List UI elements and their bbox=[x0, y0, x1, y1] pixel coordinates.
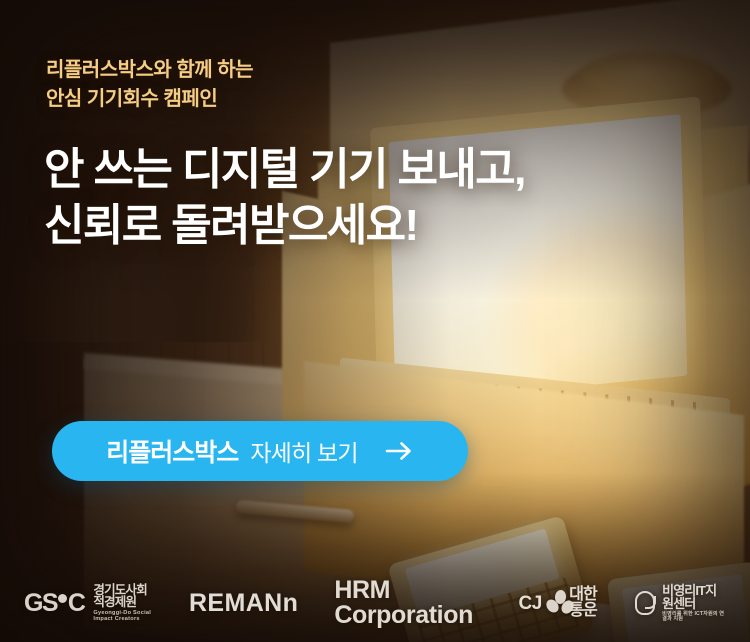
logo-gsic[interactable]: GSC 경기도사회적경제원 Gyeonggi-Do Social Impact … bbox=[24, 584, 155, 622]
npoit-subtitle: 비영리를 위한 ICT자원의 연결과 지원 bbox=[662, 612, 726, 622]
gsic-mark-tail: C bbox=[68, 591, 84, 616]
banner-content: 리플러스박스와 함께 하는 안심 기기회수 캠페인 안 쓰는 디지털 기기 보내… bbox=[0, 0, 750, 642]
logo-npo-it-center[interactable]: 비영리IT지원센터 비영리를 위한 ICT자원의 연결과 지원 bbox=[635, 584, 726, 622]
logo-cj-logistics[interactable]: CJ 대한통운 bbox=[519, 587, 605, 619]
arrow-right-icon bbox=[384, 440, 414, 462]
campaign-banner: 리플러스박스와 함께 하는 안심 기기회수 캠페인 안 쓰는 디지털 기기 보내… bbox=[0, 0, 750, 642]
cta-action-label: 자세히 보기 bbox=[250, 434, 357, 468]
eyebrow-text: 리플러스박스와 함께 하는 안심 기기회수 캠페인 bbox=[46, 56, 253, 114]
gsic-name-en: Gyeonggi-Do Social Impact Creators bbox=[93, 611, 155, 622]
cj-name-kr: 대한통운 bbox=[569, 587, 604, 619]
npoit-name-kr: 비영리IT지원센터 bbox=[662, 584, 726, 610]
gsic-mark-icon: GSC bbox=[24, 591, 84, 616]
cj-blossom-icon bbox=[547, 590, 564, 617]
logo-hrm-corporation[interactable]: HRM Corporation bbox=[334, 578, 484, 628]
hrm-wordmark: HRM Corporation bbox=[334, 578, 484, 628]
gsic-mark-letters: GS bbox=[24, 591, 57, 616]
page-title: 안 쓰는 디지털 기기 보내고, 신뢰로 돌려받으세요! bbox=[44, 142, 525, 255]
cj-wordmark: CJ bbox=[519, 594, 542, 613]
cta-brand-label: 리플러스박스 bbox=[106, 433, 238, 469]
npoit-wordmark: 비영리IT지원센터 비영리를 위한 ICT자원의 연결과 지원 bbox=[662, 584, 726, 622]
remann-wordmark: REMANn bbox=[189, 591, 298, 616]
gsic-person-dot-icon bbox=[58, 594, 67, 603]
gsic-name-kr: 경기도사회적경제원 bbox=[93, 584, 155, 609]
logo-remann[interactable]: REMANn bbox=[189, 591, 298, 616]
reple-box-detail-button[interactable]: 리플러스박스 자세히 보기 bbox=[52, 421, 468, 481]
gsic-wordmark: 경기도사회적경제원 Gyeonggi-Do Social Impact Crea… bbox=[93, 584, 155, 622]
cloud-link-icon bbox=[635, 591, 656, 615]
partner-logo-bar: GSC 경기도사회적경제원 Gyeonggi-Do Social Impact … bbox=[0, 564, 750, 642]
